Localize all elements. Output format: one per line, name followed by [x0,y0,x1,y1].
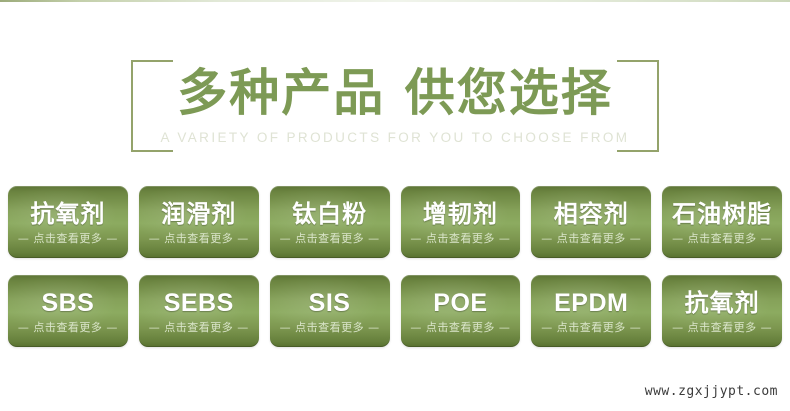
product-button[interactable]: 增韧剂— 点击查看更多 — [401,186,521,258]
product-button-label: 钛白粉 [292,199,367,229]
product-button[interactable]: SBS— 点击查看更多 — [8,275,128,347]
product-button[interactable]: 抗氧剂— 点击查看更多 — [662,275,782,347]
site-watermark: www.zgxjjypt.com [645,384,778,399]
product-button-label: 润滑剂 [161,199,236,229]
product-button-label: SIS [309,288,351,318]
product-button-cta: — 点击查看更多 — [672,321,772,335]
product-button-cta: — 点击查看更多 — [18,232,118,246]
product-button-label: POE [433,288,487,318]
product-button-label: SEBS [164,288,234,318]
product-button[interactable]: EPDM— 点击查看更多 — [531,275,651,347]
product-button-cta: — 点击查看更多 — [280,232,380,246]
product-button[interactable]: SIS— 点击查看更多 — [270,275,390,347]
product-button[interactable]: 相容剂— 点击查看更多 — [531,186,651,258]
product-button-label: 相容剂 [554,199,629,229]
top-divider-rule [0,0,790,2]
product-button-grid: 抗氧剂— 点击查看更多 —润滑剂— 点击查看更多 —钛白粉— 点击查看更多 —增… [8,186,782,347]
product-button[interactable]: 钛白粉— 点击查看更多 — [270,186,390,258]
product-button-cta: — 点击查看更多 — [410,232,510,246]
product-button-cta: — 点击查看更多 — [541,232,641,246]
page-subtitle: A VARIETY OF PRODUCTS FOR YOU TO CHOOSE … [0,130,790,145]
product-button-label: 抗氧剂 [685,288,760,318]
product-button-cta: — 点击查看更多 — [672,232,772,246]
page-header: 多种产品 供您选择 A VARIETY OF PRODUCTS FOR YOU … [0,52,790,160]
product-button-cta: — 点击查看更多 — [280,321,380,335]
product-button-cta: — 点击查看更多 — [18,321,118,335]
page-title: 多种产品 供您选择 [0,60,790,126]
product-button-label: 石油树脂 [672,199,772,229]
product-button-label: 增韧剂 [423,199,498,229]
product-button-label: EPDM [554,288,628,318]
product-button-cta: — 点击查看更多 — [149,321,249,335]
product-button[interactable]: 抗氧剂— 点击查看更多 — [8,186,128,258]
product-button[interactable]: 石油树脂— 点击查看更多 — [662,186,782,258]
product-button[interactable]: POE— 点击查看更多 — [401,275,521,347]
product-button[interactable]: 润滑剂— 点击查看更多 — [139,186,259,258]
product-button-cta: — 点击查看更多 — [149,232,249,246]
product-button-label: 抗氧剂 [30,199,105,229]
product-button-label: SBS [41,288,94,318]
product-button-cta: — 点击查看更多 — [541,321,641,335]
product-button[interactable]: SEBS— 点击查看更多 — [139,275,259,347]
product-button-cta: — 点击查看更多 — [410,321,510,335]
